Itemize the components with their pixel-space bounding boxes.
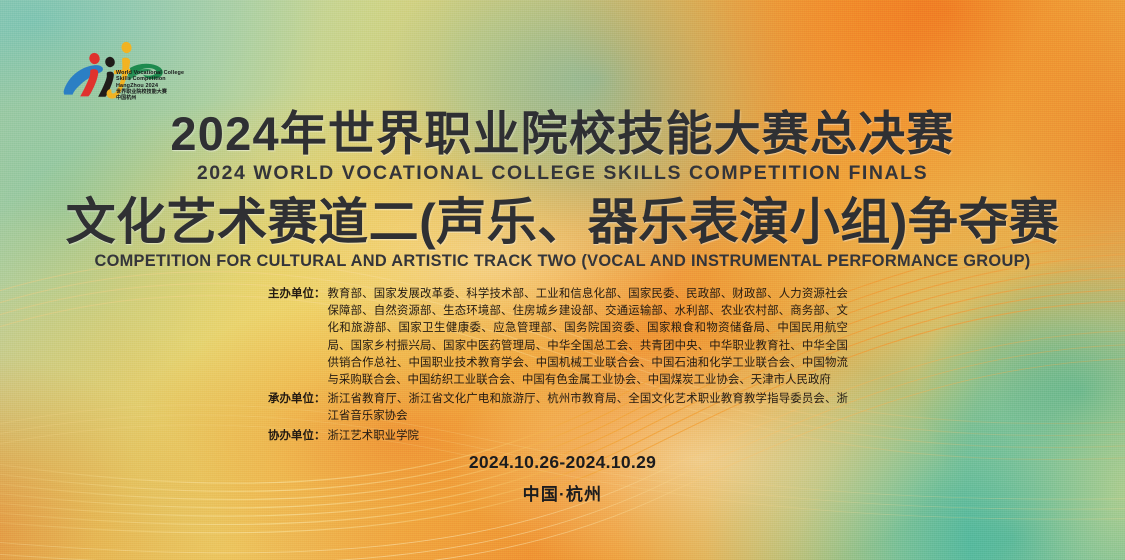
subtitle-chinese: 文化艺术赛道二(声乐、器乐表演小组)争夺赛 — [0, 197, 1125, 248]
organizer-label-coorganizer: 协办单位： — [268, 428, 325, 445]
main-title-chinese: 2024年世界职业院校技能大赛总决赛 — [0, 110, 1125, 158]
logo: World Vocational College Skills Competit… — [62, 38, 222, 118]
event-date: 2024.10.26-2024.10.29 — [0, 452, 1125, 473]
organizer-label-host: 主办单位： — [268, 286, 325, 303]
event-location: 中国·杭州 — [0, 480, 1125, 505]
organizer-block: 主办单位： 教育部、国家发展改革委、科学技术部、工业和信息化部、国家民委、民政部… — [268, 286, 848, 447]
subtitle-english: COMPETITION FOR CULTURAL AND ARTISTIC TR… — [0, 252, 1125, 271]
event-poster: World Vocational College Skills Competit… — [0, 0, 1125, 560]
organizer-label-undertaker: 承办单位： — [268, 391, 325, 408]
main-title-english: 2024 WORLD VOCATIONAL COLLEGE SKILLS COM… — [0, 162, 1125, 185]
organizer-row-coorganizer: 协办单位： 浙江艺术职业学院 — [268, 428, 848, 445]
organizer-value-host: 教育部、国家发展改革委、科学技术部、工业和信息化部、国家民委、民政部、财政部、人… — [327, 286, 848, 389]
organizer-value-coorganizer: 浙江艺术职业学院 — [327, 428, 848, 445]
organizer-value-undertaker: 浙江省教育厅、浙江省文化广电和旅游厅、杭州市教育局、全国文化艺术职业教育教学指导… — [327, 391, 848, 425]
footer-block: 2024.10.26-2024.10.29 中国·杭州 — [0, 452, 1125, 505]
logo-line-cn-2: 中国杭州 — [116, 96, 184, 102]
logo-text-block: World Vocational College Skills Competit… — [116, 70, 184, 102]
title-area: 2024年世界职业院校技能大赛总决赛 2024 WORLD VOCATIONAL… — [0, 110, 1125, 271]
organizer-row-host: 主办单位： 教育部、国家发展改革委、科学技术部、工业和信息化部、国家民委、民政部… — [268, 286, 848, 389]
organizer-row-undertaker: 承办单位： 浙江省教育厅、浙江省文化广电和旅游厅、杭州市教育局、全国文化艺术职业… — [268, 391, 848, 425]
